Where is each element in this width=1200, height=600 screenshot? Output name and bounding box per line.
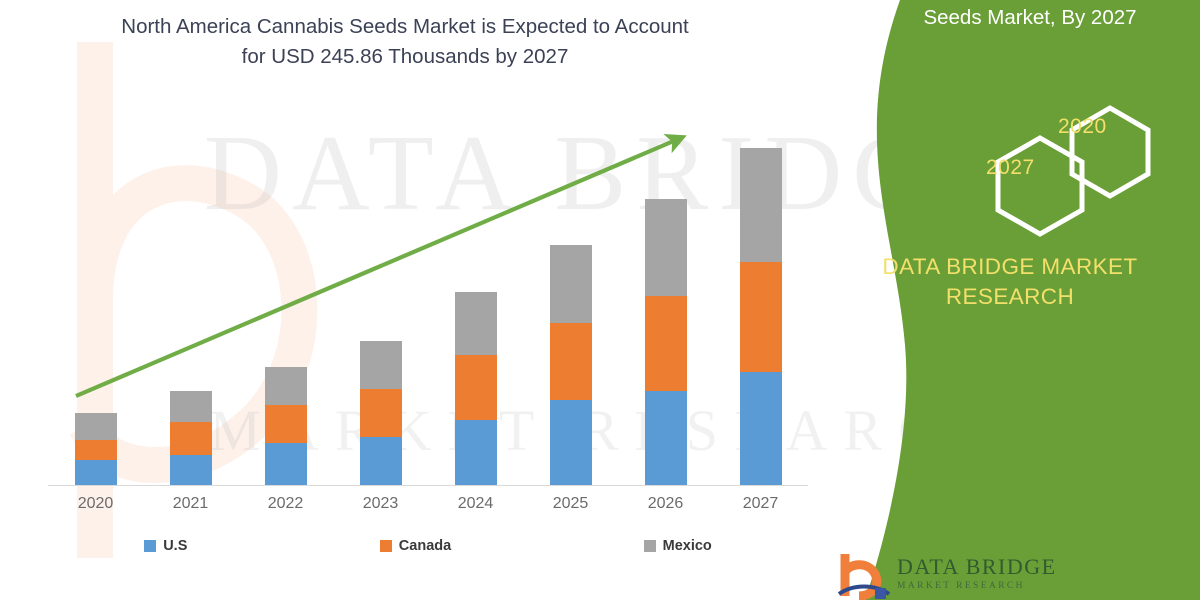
bar-segment-mexico-2027[interactable] — [740, 148, 782, 262]
chart-title-line-2: for USD 245.86 Thousands by 2027 — [50, 42, 760, 72]
bar-group-2022[interactable] — [238, 130, 333, 485]
bar-group-2026[interactable] — [618, 130, 713, 485]
chart-title-line-1: North America Cannabis Seeds Market is E… — [50, 12, 760, 42]
bar-group-2025[interactable] — [523, 130, 618, 485]
bar-segment-us-2026[interactable] — [645, 391, 687, 485]
x-axis-label-2022: 2022 — [238, 495, 333, 513]
legend-label: U.S — [163, 538, 187, 554]
legend-label: Canada — [399, 538, 451, 554]
bar-stack[interactable] — [740, 148, 782, 485]
bar-group-2024[interactable] — [428, 130, 523, 485]
bar-segment-us-2025[interactable] — [550, 400, 592, 485]
brand-name-line-2: RESEARCH — [845, 282, 1175, 312]
bar-group-2023[interactable] — [333, 130, 428, 485]
bar-segment-mexico-2021[interactable] — [170, 391, 212, 422]
x-axis-label-2024: 2024 — [428, 495, 523, 513]
bar-segment-canada-2023[interactable] — [360, 389, 402, 437]
legend-swatch-icon — [644, 540, 656, 552]
bar-series-container — [48, 130, 808, 485]
legend-swatch-icon — [380, 540, 392, 552]
panel-heading: Seeds Market, By 2027 — [870, 6, 1190, 30]
x-axis-label-2023: 2023 — [333, 495, 428, 513]
legend-label: Mexico — [663, 538, 712, 554]
bar-segment-us-2023[interactable] — [360, 437, 402, 485]
legend-item-canada[interactable]: Canada — [380, 538, 451, 554]
bar-stack[interactable] — [170, 391, 212, 485]
x-axis-label-2025: 2025 — [523, 495, 618, 513]
bar-stack[interactable] — [75, 413, 117, 485]
bar-segment-canada-2024[interactable] — [455, 355, 497, 420]
legend-swatch-icon — [144, 540, 156, 552]
bar-group-2021[interactable] — [143, 130, 238, 485]
bar-segment-us-2022[interactable] — [265, 443, 307, 485]
bar-segment-us-2020[interactable] — [75, 460, 117, 485]
bar-segment-mexico-2020[interactable] — [75, 413, 117, 440]
bar-stack[interactable] — [645, 199, 687, 485]
infographic-canvas: DATA BRIDGE MARKET RESEARCH North Americ… — [0, 0, 1200, 600]
panel-logo-subtext: MARKET RESEARCH — [897, 581, 1025, 591]
panel-logo: DATA BRIDGE MARKET RESEARCH — [835, 548, 1085, 600]
bar-stack[interactable] — [455, 292, 497, 485]
bar-stack[interactable] — [265, 367, 307, 485]
bar-segment-canada-2022[interactable] — [265, 405, 307, 443]
bar-group-2020[interactable] — [48, 130, 143, 485]
bar-segment-us-2027[interactable] — [740, 372, 782, 485]
bar-segment-canada-2025[interactable] — [550, 323, 592, 400]
x-axis-label-2026: 2026 — [618, 495, 713, 513]
brand-name-line-1: DATA BRIDGE MARKET — [845, 252, 1175, 282]
bar-segment-canada-2027[interactable] — [740, 262, 782, 372]
hexagon-badges: 2020 2027 — [910, 90, 1190, 250]
x-axis-label-2020: 2020 — [48, 495, 143, 513]
bar-segment-mexico-2025[interactable] — [550, 245, 592, 323]
bar-stack[interactable] — [550, 245, 592, 485]
bar-segment-canada-2021[interactable] — [170, 422, 212, 455]
bar-stack[interactable] — [360, 341, 402, 485]
hex-badge-2020: 2020 — [1058, 115, 1107, 139]
legend-item-mexico[interactable]: Mexico — [644, 538, 712, 554]
panel-logo-text: DATA BRIDGE — [897, 554, 1057, 580]
x-axis-tick-labels: 20202021202220232024202520262027 — [48, 495, 808, 513]
bar-segment-mexico-2022[interactable] — [265, 367, 307, 405]
legend-item-us[interactable]: U.S — [144, 538, 187, 554]
bar-segment-us-2024[interactable] — [455, 420, 497, 485]
bar-segment-canada-2026[interactable] — [645, 296, 687, 391]
bar-segment-canada-2020[interactable] — [75, 440, 117, 460]
bar-segment-mexico-2023[interactable] — [360, 341, 402, 389]
bar-segment-mexico-2026[interactable] — [645, 199, 687, 296]
x-axis-label-2021: 2021 — [143, 495, 238, 513]
x-axis-line — [48, 485, 808, 486]
bridge-logo-icon — [835, 550, 893, 600]
chart-legend: U.SCanadaMexico — [48, 538, 808, 554]
bar-segment-us-2021[interactable] — [170, 455, 212, 485]
hex-badge-2027: 2027 — [986, 156, 1035, 180]
hexagon-outlines-icon — [910, 90, 1190, 250]
chart-title: North America Cannabis Seeds Market is E… — [50, 12, 760, 71]
brand-name: DATA BRIDGE MARKET RESEARCH — [845, 252, 1175, 313]
brand-panel: Seeds Market, By 2027 2020 2027 DATA BRI… — [790, 0, 1200, 600]
chart-plot-area: 20202021202220232024202520262027 — [0, 0, 830, 600]
bar-segment-mexico-2024[interactable] — [455, 292, 497, 355]
